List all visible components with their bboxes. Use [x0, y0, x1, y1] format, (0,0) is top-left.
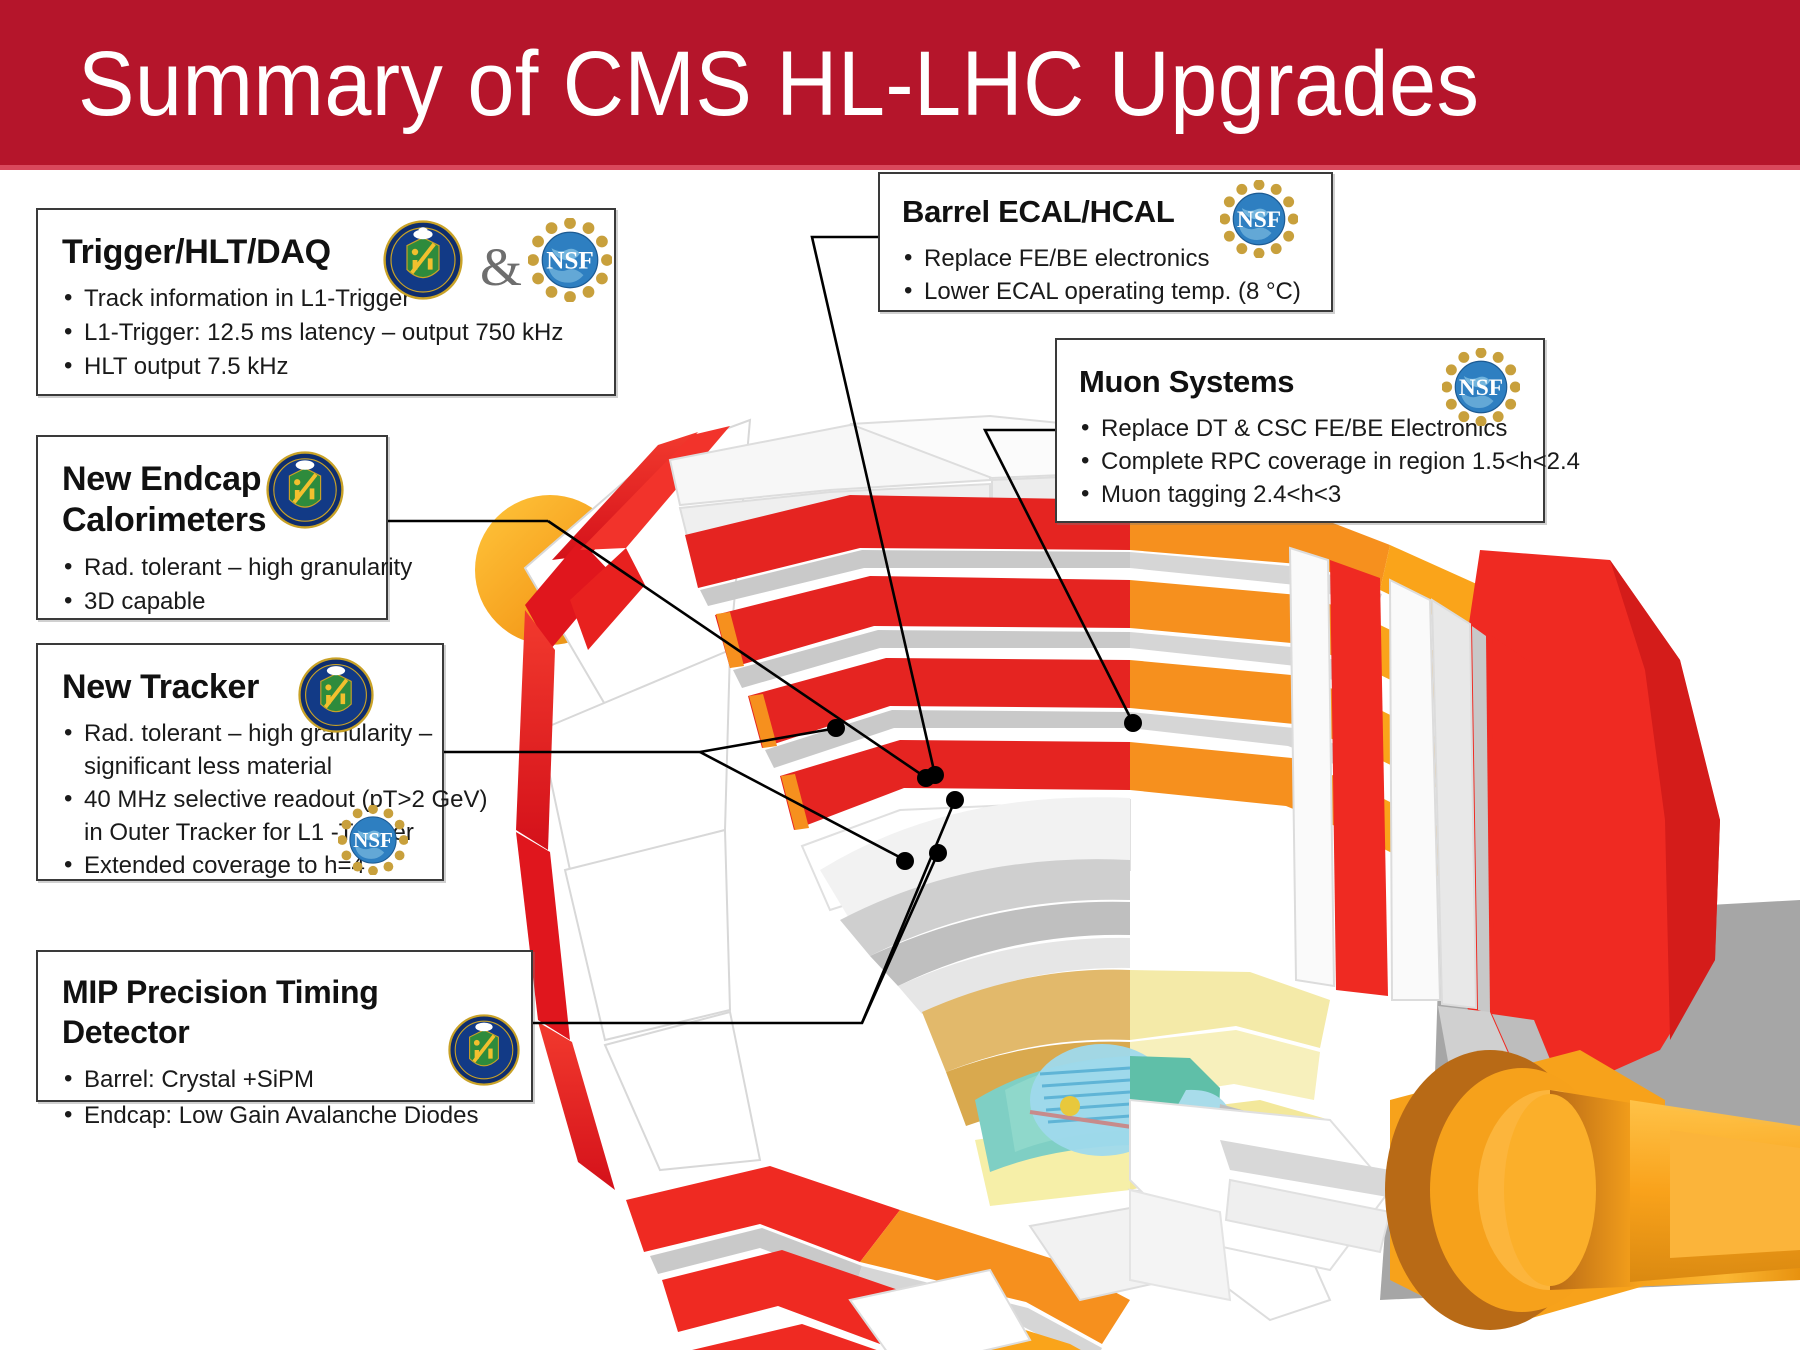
- doe-seal-logo: [383, 220, 463, 300]
- bullet: L1-Trigger: 12.5 ms latency – output 750…: [62, 316, 590, 350]
- bullet: Lower ECAL operating temp. (8 °C): [902, 275, 1309, 308]
- nsf-seal-logo: NSF: [338, 805, 408, 875]
- bullet: Muon tagging 2.4<h<3: [1079, 478, 1521, 511]
- doe-seal-logo: [266, 451, 344, 529]
- bullet: HLT output 7.5 kHz: [62, 350, 590, 384]
- slide-root: Summary of CMS HL-LHC Upgrades: [0, 0, 1800, 1350]
- callout-bullets-endcap: Rad. tolerant – high granularity 3D capa…: [62, 551, 362, 619]
- doe-seal-logo: [298, 657, 374, 733]
- bullet: 3D capable: [62, 585, 362, 619]
- callout-bullets-mip: Barrel: Crystal +SiPM Endcap: Low Gain A…: [62, 1062, 507, 1134]
- callout-trigger-hlt-daq[interactable]: Trigger/HLT/DAQ Track information in L1-…: [36, 208, 616, 396]
- nsf-seal-logo: NSF: [528, 218, 612, 302]
- nsf-seal-logo: NSF: [1442, 348, 1520, 426]
- callout-bullets-muon: Replace DT & CSC FE/BE Electronics Compl…: [1079, 412, 1521, 511]
- nsf-seal-logo: NSF: [1220, 180, 1298, 258]
- callout-title-mip: MIP Precision Timing Detector: [62, 972, 507, 1052]
- nsf-logo-text: NSF: [546, 247, 594, 274]
- bullet-continuation: significant less material: [62, 750, 418, 783]
- header-underline: [0, 165, 1800, 170]
- cms-detector-illustration: [430, 400, 1800, 1350]
- nsf-logo-text: NSF: [353, 828, 393, 852]
- bullet: Barrel: Crystal +SiPM: [62, 1062, 507, 1098]
- page-title: Summary of CMS HL-LHC Upgrades: [78, 24, 1479, 144]
- callout-new-tracker[interactable]: New Tracker Rad. tolerant – high granula…: [36, 643, 444, 881]
- nsf-logo-text: NSF: [1459, 375, 1503, 401]
- bullet: Rad. tolerant – high granularity: [62, 551, 362, 585]
- callout-muon-systems[interactable]: Muon Systems Replace DT & CSC FE/BE Elec…: [1055, 338, 1545, 523]
- bullet: Endcap: Low Gain Avalanche Diodes: [62, 1098, 507, 1134]
- callout-barrel-ecal-hcal[interactable]: Barrel ECAL/HCAL Replace FE/BE electroni…: [878, 172, 1333, 312]
- ampersand-symbol: &: [480, 236, 522, 298]
- nsf-logo-text: NSF: [1237, 207, 1281, 233]
- callout-mip-precision-timing-detector[interactable]: MIP Precision Timing Detector Barrel: Cr…: [36, 950, 533, 1102]
- doe-seal-logo: [448, 1014, 520, 1086]
- bullet: Complete RPC coverage in region 1.5<h<2.…: [1079, 445, 1521, 478]
- header-banner: Summary of CMS HL-LHC Upgrades: [0, 0, 1800, 170]
- callout-new-endcap-calorimeters[interactable]: New Endcap Calorimeters Rad. tolerant – …: [36, 435, 388, 620]
